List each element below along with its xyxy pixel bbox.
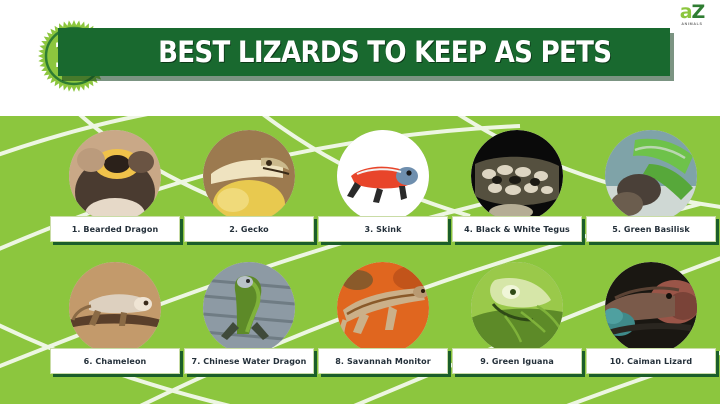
lizard-label-plaque-4: 4. Black & White Tegus — [452, 216, 582, 242]
plaque-face: 10. Caiman Lizard — [586, 348, 716, 374]
lizard-photo-8 — [337, 262, 429, 354]
lizard-label-9: 9. Green Iguana — [480, 357, 554, 366]
green-basilisk-photo — [605, 130, 697, 222]
lizard-card-7[interactable]: 7. Chinese Water Dragon — [182, 262, 316, 392]
lizard-photo-3 — [337, 130, 429, 222]
plaque-face: 3. Skink — [318, 216, 448, 242]
logo-letter-a: a — [680, 1, 692, 23]
lizard-label-plaque-7: 7. Chinese Water Dragon — [184, 348, 314, 374]
black-white-tegu-photo — [471, 130, 563, 222]
gecko-photo — [203, 130, 295, 222]
logo-mark: aZ — [676, 3, 708, 22]
lizard-row-2: 6. Chameleon — [0, 262, 720, 392]
bearded-dragon-photo — [69, 130, 161, 222]
header: 10 BEST LIZARDS TO KEEP AS PETS aZ ANIMA… — [0, 0, 720, 116]
brand-logo: aZ ANIMALS — [676, 3, 708, 29]
plaque-face: 5. Green Basilisk — [586, 216, 716, 242]
skink-photo — [337, 130, 429, 222]
plaque-face: 9. Green Iguana — [452, 348, 582, 374]
lizard-card-3[interactable]: 3. Skink — [316, 130, 450, 260]
lizard-label-plaque-5: 5. Green Basilisk — [586, 216, 716, 242]
lizard-label-4: 4. Black & White Tegus — [464, 225, 570, 234]
page-title: BEST LIZARDS TO KEEP AS PETS — [89, 28, 640, 76]
lizard-label-plaque-1: 1. Bearded Dragon — [50, 216, 180, 242]
lizard-card-2[interactable]: 2. Gecko — [182, 130, 316, 260]
lizard-label-plaque-3: 3. Skink — [318, 216, 448, 242]
savannah-monitor-photo — [337, 262, 429, 354]
lizard-photo-4 — [471, 130, 563, 222]
plaque-face: 2. Gecko — [184, 216, 314, 242]
lizard-label-6: 6. Chameleon — [84, 357, 147, 366]
lizard-photo-10 — [605, 262, 697, 354]
lizard-photo-2 — [203, 130, 295, 222]
lizard-photo-1 — [69, 130, 161, 222]
plaque-face: 1. Bearded Dragon — [50, 216, 180, 242]
lizard-label-1: 1. Bearded Dragon — [72, 225, 159, 234]
lizard-card-8[interactable]: 8. Savannah Monitor — [316, 262, 450, 392]
lizard-label-5: 5. Green Basilisk — [612, 225, 690, 234]
lizard-label-7: 7. Chinese Water Dragon — [192, 357, 307, 366]
lizard-label-plaque-8: 8. Savannah Monitor — [318, 348, 448, 374]
lizard-card-4[interactable]: 4. Black & White Tegus — [450, 130, 584, 260]
lizard-row-1: 1. Bearded Dragon — [0, 130, 720, 260]
plaque-face: 8. Savannah Monitor — [318, 348, 448, 374]
chameleon-photo — [69, 262, 161, 354]
lizard-label-3: 3. Skink — [364, 225, 401, 234]
lizard-card-9[interactable]: 9. Green Iguana — [450, 262, 584, 392]
content-panel: 1. Bearded Dragon — [0, 116, 720, 404]
lizard-label-plaque-6: 6. Chameleon — [50, 348, 180, 374]
title-banner: BEST LIZARDS TO KEEP AS PETS — [58, 28, 670, 76]
lizard-card-6[interactable]: 6. Chameleon — [48, 262, 182, 392]
lizard-label-8: 8. Savannah Monitor — [335, 357, 431, 366]
lizard-label-plaque-2: 2. Gecko — [184, 216, 314, 242]
lizard-label-plaque-10: 10. Caiman Lizard — [586, 348, 716, 374]
lizard-photo-6 — [69, 262, 161, 354]
green-iguana-photo — [471, 262, 563, 354]
lizard-photo-9 — [471, 262, 563, 354]
lizard-photo-7 — [203, 262, 295, 354]
lizard-card-5[interactable]: 5. Green Basilisk — [584, 130, 718, 260]
chinese-water-dragon-photo — [203, 262, 295, 354]
lizard-card-1[interactable]: 1. Bearded Dragon — [48, 130, 182, 260]
lizard-card-10[interactable]: 10. Caiman Lizard — [584, 262, 718, 392]
infographic-canvas: 10 BEST LIZARDS TO KEEP AS PETS aZ ANIMA… — [0, 0, 720, 404]
plaque-face: 4. Black & White Tegus — [452, 216, 582, 242]
lizard-label-2: 2. Gecko — [229, 225, 269, 234]
caiman-lizard-photo — [605, 262, 697, 354]
lizard-photo-5 — [605, 130, 697, 222]
logo-letter-z: Z — [692, 1, 705, 23]
lizard-label-plaque-9: 9. Green Iguana — [452, 348, 582, 374]
lizard-label-10: 10. Caiman Lizard — [610, 357, 692, 366]
plaque-face: 7. Chinese Water Dragon — [184, 348, 314, 374]
plaque-face: 6. Chameleon — [50, 348, 180, 374]
